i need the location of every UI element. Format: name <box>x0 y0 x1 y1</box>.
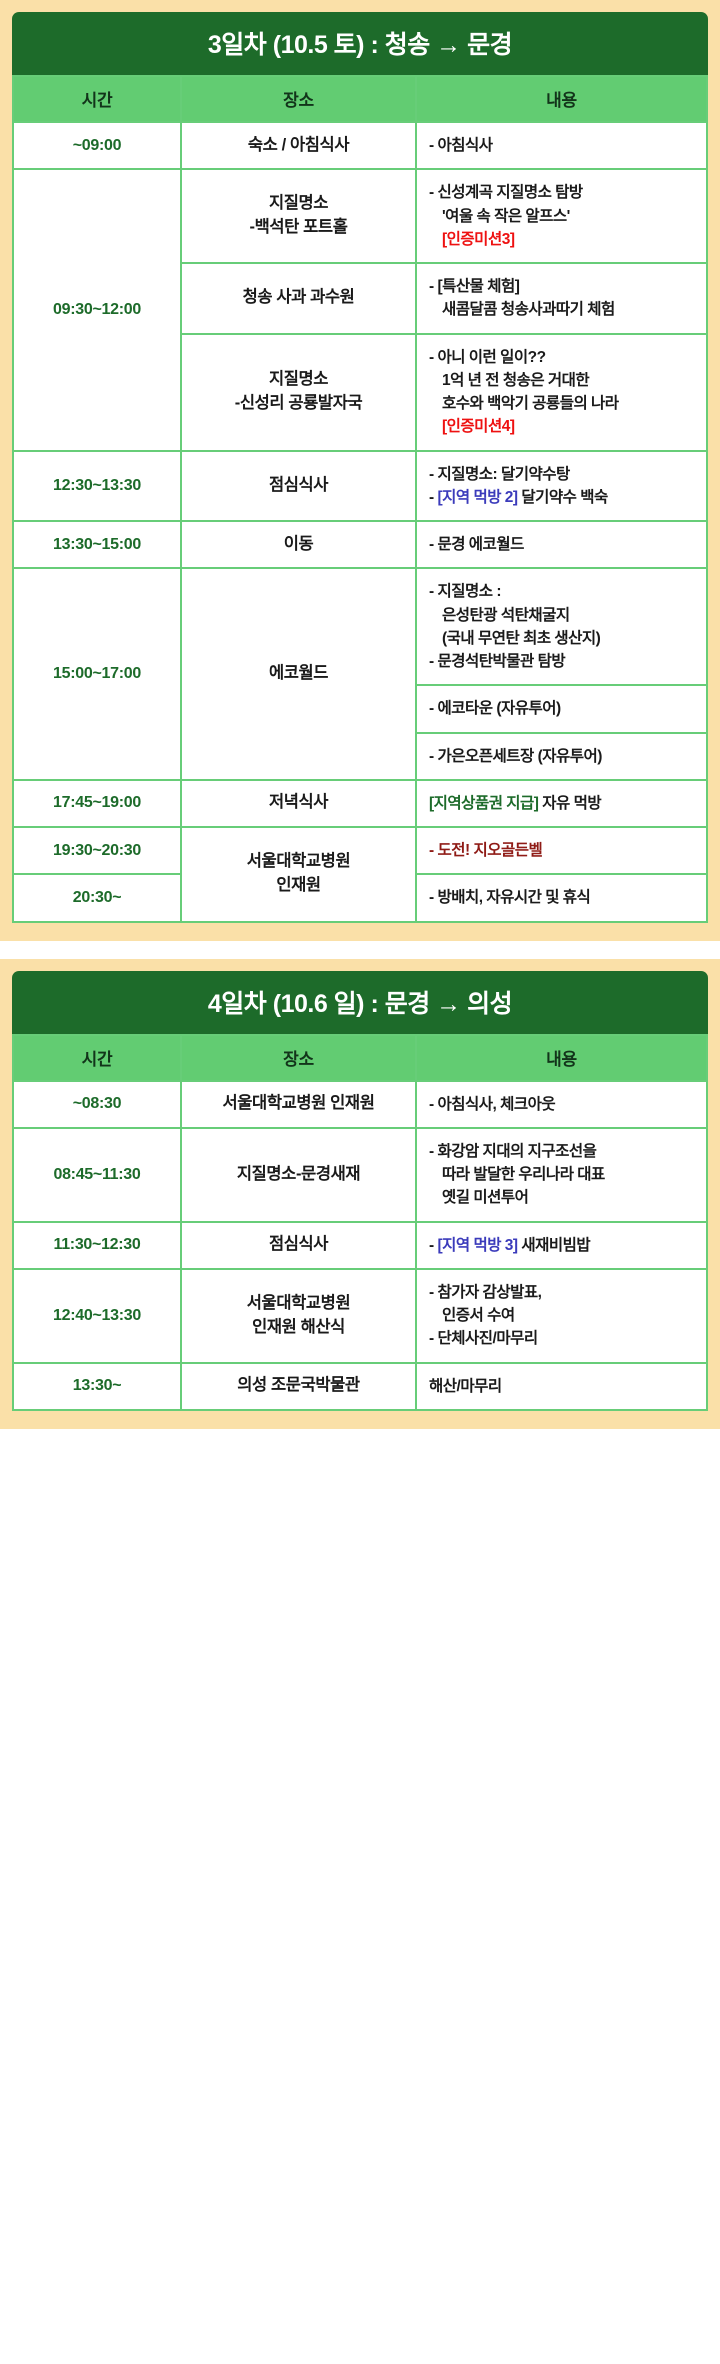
cell-time: 13:30~ <box>13 1363 181 1410</box>
detail-line: 1억 년 전 청송은 거대한 <box>429 369 698 392</box>
cell-detail: - 문경 에코월드 <box>416 521 707 568</box>
table-row: 17:45~19:00저녁식사[지역상품권 지급] 자유 먹방 <box>13 780 707 827</box>
cell-detail: - 신성계곡 지질명소 탐방'여울 속 작은 알프스'[인증미션3] <box>416 169 707 263</box>
table-row: 12:30~13:30점심식사- 지질명소: 달기약수탕- [지역 먹방 2] … <box>13 451 707 522</box>
detail-line: 호수와 백악기 공룡들의 나라 <box>429 392 698 415</box>
cell-time: 12:30~13:30 <box>13 451 181 522</box>
place-line: 저녁식사 <box>269 793 328 811</box>
detail-line: - 도전! 지오골든벨 <box>429 839 698 862</box>
cell-detail: - 지질명소 :은성탄광 석탄채굴지(국내 무연탄 최초 생산지)- 문경석탄박… <box>416 568 707 685</box>
detail-line: - 아침식사 <box>429 134 698 157</box>
cell-place: 의성 조문국박물관 <box>181 1363 416 1410</box>
cell-time: 12:40~13:30 <box>13 1269 181 1363</box>
cell-place: 숙소 / 아침식사 <box>181 122 416 169</box>
cell-place: 지질명소-신성리 공룡발자국 <box>181 334 416 451</box>
cell-detail: - [지역 먹방 3] 새재비빔밥 <box>416 1222 707 1269</box>
table-row: ~08:30서울대학교병원 인재원- 아침식사, 체크아웃 <box>13 1081 707 1128</box>
place-line: 에코월드 <box>269 664 328 682</box>
place-line: 인재원 해산식 <box>252 1318 345 1336</box>
cell-detail: 해산/마무리 <box>416 1363 707 1410</box>
place-line: 의성 조문국박물관 <box>237 1376 359 1394</box>
detail-line: - 에코타운 (자유투어) <box>429 697 698 720</box>
cell-place: 서울대학교병원인재원 해산식 <box>181 1269 416 1363</box>
table-row: ~09:00숙소 / 아침식사- 아침식사 <box>13 122 707 169</box>
cell-detail: - 화강암 지대의 지구조선을따라 발달한 우리나라 대표옛길 미션투어 <box>416 1128 707 1222</box>
column-header-detail: 내용 <box>416 76 707 122</box>
detail-line: '여울 속 작은 알프스' <box>429 205 698 228</box>
detail-line: - 지질명소: 달기약수탕 <box>429 463 698 486</box>
cell-detail: - 참가자 감상발표,인증서 수여- 단체사진/마무리 <box>416 1269 707 1363</box>
detail-line: - 가은오픈세트장 (자유투어) <box>429 745 698 768</box>
day-title: 3일차 (10.5 토) : 청송 → 문경 <box>12 12 708 75</box>
detail-line: 새콤달콤 청송사과따기 체험 <box>429 298 698 321</box>
place-line: 지질명소 <box>269 370 328 388</box>
table-header-row: 시간장소내용 <box>13 76 707 122</box>
cell-place: 저녁식사 <box>181 780 416 827</box>
column-header-time: 시간 <box>13 76 181 122</box>
detail-line: 해산/마무리 <box>429 1375 698 1398</box>
detail-line: - [특산물 체험] <box>429 275 698 298</box>
cell-time: ~09:00 <box>13 122 181 169</box>
table-row: 15:00~17:00에코월드- 지질명소 :은성탄광 석탄채굴지(국내 무연탄… <box>13 568 707 685</box>
cell-place: 점심식사 <box>181 1222 416 1269</box>
table-row: 11:30~12:30점심식사- [지역 먹방 3] 새재비빔밥 <box>13 1222 707 1269</box>
column-header-time: 시간 <box>13 1035 181 1081</box>
day-card-1: 3일차 (10.5 토) : 청송 → 문경시간장소내용~09:00숙소 / 아… <box>0 0 720 941</box>
column-header-detail: 내용 <box>416 1035 707 1081</box>
detail-line: - 지질명소 : <box>429 580 698 603</box>
section-spacer <box>0 941 720 959</box>
column-header-place: 장소 <box>181 1035 416 1081</box>
table-header-row: 시간장소내용 <box>13 1035 707 1081</box>
cell-detail: - 아침식사, 체크아웃 <box>416 1081 707 1128</box>
place-line: -신성리 공룡발자국 <box>235 394 363 412</box>
detail-line: [지역상품권 지급] 자유 먹방 <box>429 792 698 815</box>
cell-place: 서울대학교병원인재원 <box>181 827 416 922</box>
cell-time: 09:30~12:00 <box>13 169 181 450</box>
place-line: 지질명소 <box>269 194 328 212</box>
place-line: 서울대학교병원 인재원 <box>223 1094 375 1112</box>
place-line: 청송 사과 과수원 <box>243 288 355 306</box>
highlight-tag: [지역상품권 지급] <box>429 795 538 812</box>
cell-detail: - 아침식사 <box>416 122 707 169</box>
detail-line: 은성탄광 석탄채굴지 <box>429 604 698 627</box>
cell-place: 서울대학교병원 인재원 <box>181 1081 416 1128</box>
cell-detail: - 도전! 지오골든벨 <box>416 827 707 874</box>
cell-place: 에코월드 <box>181 568 416 780</box>
table-row: 09:30~12:00지질명소-백석탄 포트홀- 신성계곡 지질명소 탐방'여울… <box>13 169 707 263</box>
detail-line: (국내 무연탄 최초 생산지) <box>429 627 698 650</box>
cell-detail: [지역상품권 지급] 자유 먹방 <box>416 780 707 827</box>
cell-detail: - 아니 이런 일이??1억 년 전 청송은 거대한호수와 백악기 공룡들의 나… <box>416 334 707 451</box>
place-line: 숙소 / 아침식사 <box>248 136 349 154</box>
table-row: 13:30~의성 조문국박물관해산/마무리 <box>13 1363 707 1410</box>
detail-line: - [지역 먹방 3] 새재비빔밥 <box>429 1234 698 1257</box>
day-title: 4일차 (10.6 일) : 문경 → 의성 <box>12 971 708 1034</box>
highlight-tag: [지역 먹방 2] <box>437 489 517 506</box>
line-text: 자유 먹방 <box>538 795 601 812</box>
detail-line: - 문경석탄박물관 탐방 <box>429 650 698 673</box>
cell-detail: - [특산물 체험]새콤달콤 청송사과따기 체험 <box>416 263 707 334</box>
cell-place: 지질명소-문경새재 <box>181 1128 416 1222</box>
table-row: 08:45~11:30지질명소-문경새재- 화강암 지대의 지구조선을따라 발달… <box>13 1128 707 1222</box>
days-container: 3일차 (10.5 토) : 청송 → 문경시간장소내용~09:00숙소 / 아… <box>0 0 720 1429</box>
place-line: 서울대학교병원 <box>247 852 350 870</box>
detail-line: - 참가자 감상발표, <box>429 1281 698 1304</box>
detail-line: 옛길 미션투어 <box>429 1186 698 1209</box>
line-text: 새재비빔밥 <box>518 1237 591 1254</box>
place-line: 서울대학교병원 <box>247 1294 350 1312</box>
cell-time: 13:30~15:00 <box>13 521 181 568</box>
table-row: 19:30~20:30서울대학교병원인재원- 도전! 지오골든벨 <box>13 827 707 874</box>
detail-line: - 단체사진/마무리 <box>429 1327 698 1350</box>
highlight-tag: [지역 먹방 3] <box>437 1237 517 1254</box>
table-row: 13:30~15:00이동- 문경 에코월드 <box>13 521 707 568</box>
table-row: 12:40~13:30서울대학교병원인재원 해산식- 참가자 감상발표,인증서 … <box>13 1269 707 1363</box>
place-line: -백석탄 포트홀 <box>250 218 348 236</box>
detail-line: - 아침식사, 체크아웃 <box>429 1093 698 1116</box>
cell-detail: - 방배치, 자유시간 및 휴식 <box>416 874 707 921</box>
cell-place: 점심식사 <box>181 451 416 522</box>
schedule-table: 시간장소내용~09:00숙소 / 아침식사- 아침식사09:30~12:00지질… <box>12 75 708 923</box>
cell-time: ~08:30 <box>13 1081 181 1128</box>
detail-line: 인증서 수여 <box>429 1304 698 1327</box>
place-line: 이동 <box>284 535 314 553</box>
detail-line: - 화강암 지대의 지구조선을 <box>429 1140 698 1163</box>
cell-time: 17:45~19:00 <box>13 780 181 827</box>
cell-detail: - 가은오픈세트장 (자유투어) <box>416 733 707 780</box>
detail-line: - 아니 이런 일이?? <box>429 346 698 369</box>
cell-time: 08:45~11:30 <box>13 1128 181 1222</box>
cell-detail: - 에코타운 (자유투어) <box>416 685 707 732</box>
detail-line: - 방배치, 자유시간 및 휴식 <box>429 886 698 909</box>
cell-place: 이동 <box>181 521 416 568</box>
cell-place: 지질명소-백석탄 포트홀 <box>181 169 416 263</box>
detail-line: [인증미션3] <box>429 228 698 251</box>
place-line: 지질명소-문경새재 <box>237 1165 360 1183</box>
cell-detail: - 지질명소: 달기약수탕- [지역 먹방 2] 달기약수 백숙 <box>416 451 707 522</box>
cell-place: 청송 사과 과수원 <box>181 263 416 334</box>
column-header-place: 장소 <box>181 76 416 122</box>
schedule-table: 시간장소내용~08:30서울대학교병원 인재원- 아침식사, 체크아웃08:45… <box>12 1034 708 1411</box>
cell-time: 20:30~ <box>13 874 181 921</box>
cell-time: 15:00~17:00 <box>13 568 181 780</box>
place-line: 점심식사 <box>269 476 328 494</box>
detail-line: - 신성계곡 지질명소 탐방 <box>429 181 698 204</box>
cell-time: 19:30~20:30 <box>13 827 181 874</box>
detail-line: - [지역 먹방 2] 달기약수 백숙 <box>429 486 698 509</box>
place-line: 인재원 <box>276 876 320 894</box>
detail-line: [인증미션4] <box>429 415 698 438</box>
itinerary-page: 3일차 (10.5 토) : 청송 → 문경시간장소내용~09:00숙소 / 아… <box>0 0 720 2364</box>
detail-line: 따라 발달한 우리나라 대표 <box>429 1163 698 1186</box>
line-text: 달기약수 백숙 <box>518 489 608 506</box>
detail-line: - 문경 에코월드 <box>429 533 698 556</box>
cell-time: 11:30~12:30 <box>13 1222 181 1269</box>
day-card-2: 4일차 (10.6 일) : 문경 → 의성시간장소내용~08:30서울대학교병… <box>0 959 720 1429</box>
place-line: 점심식사 <box>269 1235 328 1253</box>
